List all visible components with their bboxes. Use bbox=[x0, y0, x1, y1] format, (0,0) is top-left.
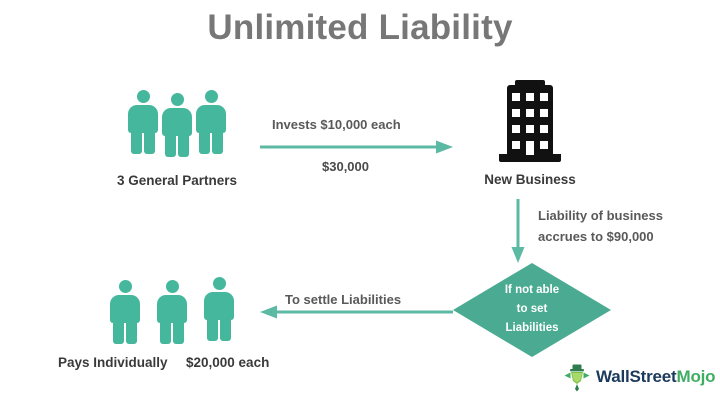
decision-text-line2: to set bbox=[453, 300, 611, 319]
person-body bbox=[128, 105, 158, 133]
building-window bbox=[526, 93, 534, 101]
building-window bbox=[540, 109, 548, 117]
building-window bbox=[526, 125, 534, 133]
person-leg-left bbox=[160, 320, 171, 344]
person-leg-right bbox=[126, 320, 137, 344]
individuals-label-part1: Pays Individually bbox=[58, 355, 178, 370]
building-base bbox=[499, 154, 561, 162]
person-body bbox=[204, 292, 234, 320]
brand-name-part1: WallStreet bbox=[596, 367, 677, 386]
person-body bbox=[196, 105, 226, 133]
business-label: New Business bbox=[455, 172, 605, 187]
wallstreetmojo-bull-icon bbox=[562, 362, 592, 392]
person-leg-left bbox=[131, 130, 142, 154]
person-head bbox=[205, 90, 218, 103]
building-window bbox=[512, 141, 520, 149]
person-leg-right bbox=[178, 133, 189, 157]
person-body bbox=[157, 295, 187, 323]
decision-text-line1: If not able bbox=[453, 281, 611, 300]
person-leg-left bbox=[165, 133, 176, 157]
person-body bbox=[162, 108, 192, 136]
building-window bbox=[526, 109, 534, 117]
building-window bbox=[540, 141, 548, 149]
invest-label-above: Invests $10,000 each bbox=[272, 117, 401, 132]
person-leg-right bbox=[144, 130, 155, 154]
person-icon bbox=[155, 280, 189, 344]
building-door bbox=[526, 141, 534, 155]
arrow-left-icon bbox=[259, 305, 455, 319]
building-window bbox=[512, 109, 520, 117]
person-head bbox=[166, 280, 179, 293]
page-title: Unlimited Liability bbox=[0, 8, 720, 48]
person-leg-left bbox=[199, 130, 210, 154]
office-building-icon bbox=[499, 80, 561, 162]
brand-wordmark: WallStreetMojo bbox=[596, 367, 715, 387]
building-window bbox=[540, 125, 548, 133]
person-icon bbox=[108, 280, 142, 344]
arrow-down-icon bbox=[511, 198, 525, 264]
building-window bbox=[540, 93, 548, 101]
brand-name-part2: Mojo bbox=[677, 367, 716, 386]
diagram-canvas: Unlimited Liability 3 General Partners I… bbox=[0, 0, 720, 401]
arrow-right-icon bbox=[258, 140, 454, 154]
person-leg-left bbox=[207, 317, 218, 341]
person-leg-right bbox=[220, 317, 231, 341]
person-leg-right bbox=[173, 320, 184, 344]
partners-icon-group bbox=[126, 84, 228, 156]
invest-label-below: $30,000 bbox=[322, 159, 369, 174]
person-leg-left bbox=[113, 320, 124, 344]
partners-label: 3 General Partners bbox=[77, 173, 277, 188]
building-window bbox=[512, 125, 520, 133]
person-head bbox=[171, 93, 184, 106]
accrue-label-line1: Liability of business bbox=[538, 208, 663, 223]
decision-diamond: If not able to set Liabilities bbox=[453, 263, 611, 357]
person-head bbox=[137, 90, 150, 103]
person-icon bbox=[202, 277, 236, 341]
individuals-label-part2: $20,000 each bbox=[186, 355, 326, 370]
person-icon bbox=[160, 93, 194, 157]
person-body bbox=[110, 295, 140, 323]
person-icon bbox=[126, 90, 160, 154]
decision-text-line3: Liabilities bbox=[453, 319, 611, 338]
brand-logo[interactable]: WallStreetMojo bbox=[562, 361, 714, 395]
person-head bbox=[213, 277, 226, 290]
building-window bbox=[512, 93, 520, 101]
person-head bbox=[119, 280, 132, 293]
person-leg-right bbox=[212, 130, 223, 154]
person-icon bbox=[194, 90, 228, 154]
accrue-label-line2: accrues to $90,000 bbox=[538, 229, 654, 244]
individuals-icon-group bbox=[108, 277, 236, 347]
